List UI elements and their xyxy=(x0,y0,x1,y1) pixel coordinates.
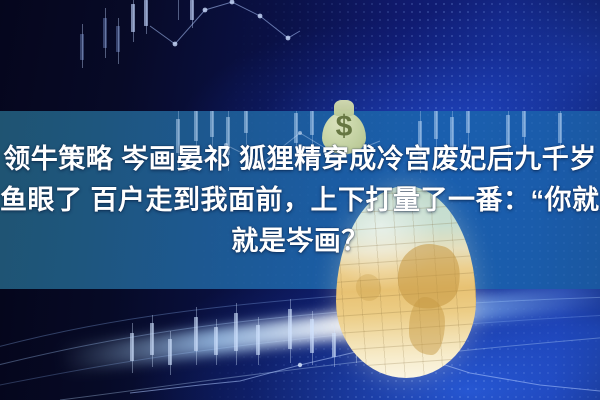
dollar-sign-1: $ xyxy=(322,112,366,142)
line-chart-top xyxy=(0,0,600,111)
caption-line-3: 就是岑画？ xyxy=(0,221,600,262)
globe-landmass-2 xyxy=(409,297,445,355)
banner-caption: 领牛策略 岑画晏祁 狐狸精穿成冷宫废妃后九千岁 鱼眼了 百户走到我面前，上下打量… xyxy=(0,139,600,262)
caption-line-2: 鱼眼了 百户走到我面前，上下打量了一番：“你就是岑 xyxy=(0,180,600,221)
background-band-top xyxy=(0,0,600,111)
line-chart-bottom xyxy=(0,289,600,400)
banner-image: $ $ xyxy=(0,0,600,400)
caption-line-1: 领牛策略 岑画晏祁 狐狸精穿成冷宫废妃后九千岁 xyxy=(0,139,600,180)
background-band-bottom xyxy=(0,289,600,400)
